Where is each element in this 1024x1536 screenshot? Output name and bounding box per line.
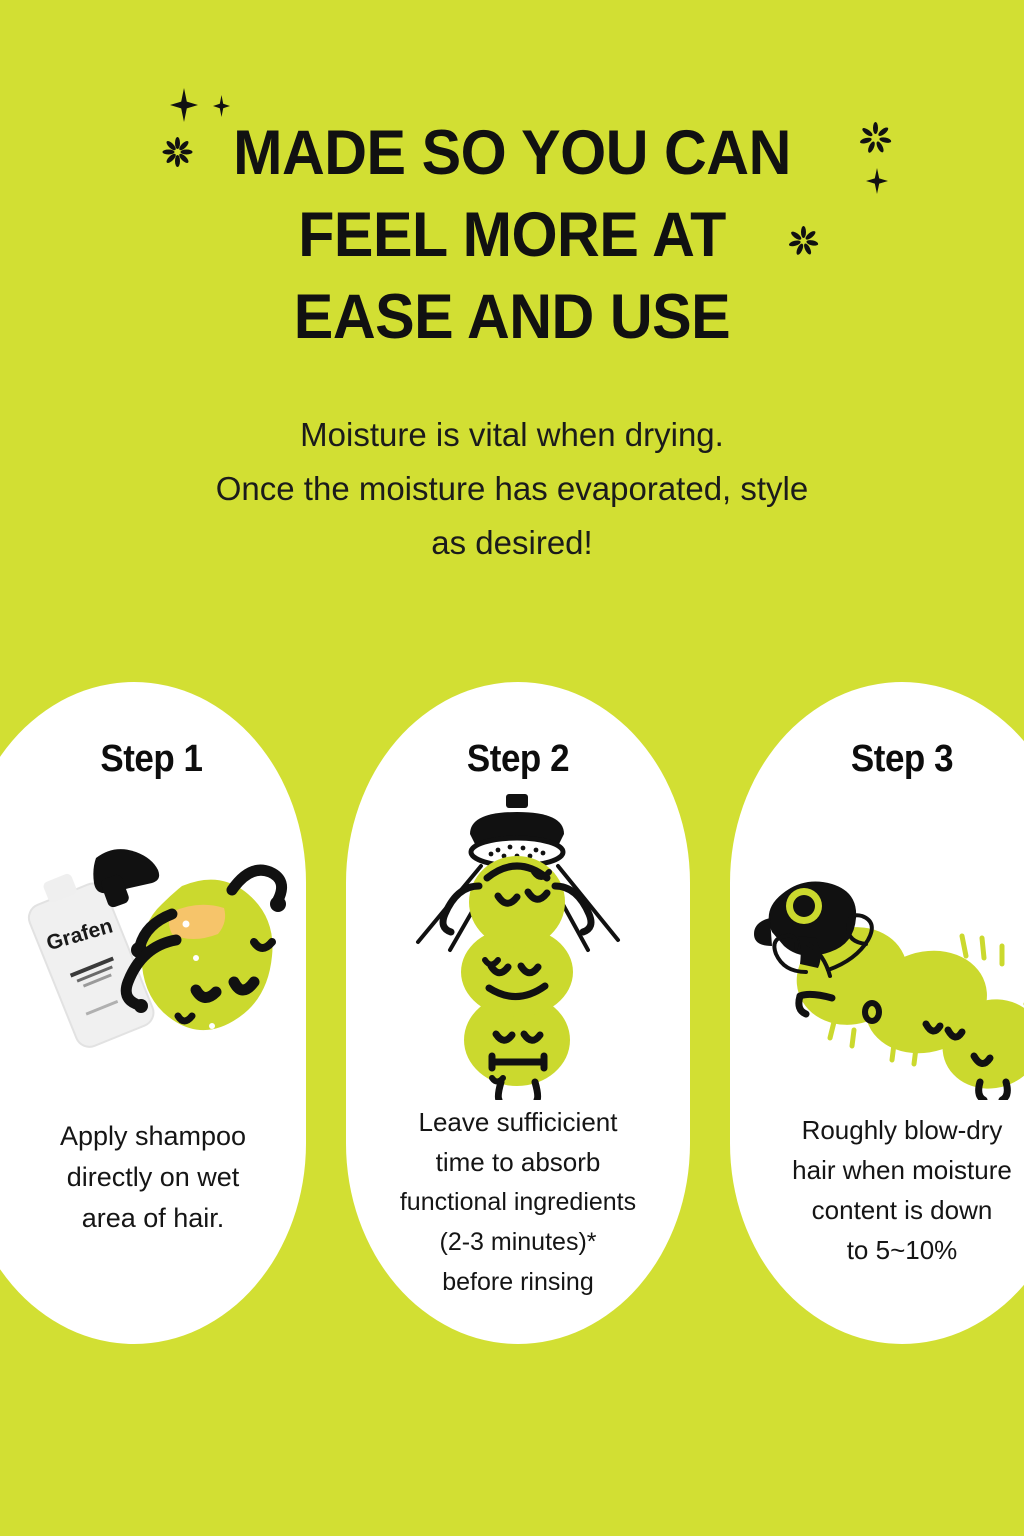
step-1-caption: Apply shampoo directly on wet area of ha… (0, 1116, 306, 1239)
page-subtitle: Moisture is vital when drying. Once the … (0, 408, 1024, 570)
step-2-caption-line-3: functional ingredients (346, 1182, 690, 1222)
step-2-title: Step 2 (360, 738, 676, 781)
step-1-caption-line-2: directly on wet (0, 1157, 306, 1198)
step-2-caption: Leave sufficicient time to absorb functi… (346, 1102, 690, 1302)
step-3-illustration (730, 790, 1024, 1100)
headline-line-1: MADE SO YOU CAN (31, 112, 994, 194)
step-1-illustration: Grafen (0, 790, 306, 1100)
page-title: MADE SO YOU CAN FEEL MORE AT EASE AND US… (31, 112, 994, 358)
step-1-title: Step 1 (0, 738, 292, 781)
hair-dryer-and-fluffy-character-icon (730, 790, 1024, 1100)
step-2-caption-line-1: Leave sufficicient (346, 1102, 690, 1142)
subtitle-line-2: Once the moisture has evaporated, style (0, 462, 1024, 516)
step-3-title: Step 3 (744, 738, 1024, 781)
step-3-caption-line-1: Roughly blow-dry (730, 1110, 1024, 1150)
step-3-caption-line-2: hair when moisture (730, 1150, 1024, 1190)
step-3-caption-line-4: to 5~10% (730, 1230, 1024, 1270)
step-2-caption-line-4: (2-3 minutes)* (346, 1222, 690, 1262)
step-1-caption-line-1: Apply shampoo (0, 1116, 306, 1157)
step-card-2[interactable]: Step 2 (346, 682, 690, 1344)
step-1-caption-line-3: area of hair. (0, 1198, 306, 1239)
step-2-caption-line-5: before rinsing (346, 1262, 690, 1302)
step-3-caption: Roughly blow-dry hair when moisture cont… (730, 1110, 1024, 1270)
step-3-caption-line-3: content is down (730, 1190, 1024, 1230)
headline-line-2: FEEL MORE AT (31, 194, 994, 276)
subtitle-line-1: Moisture is vital when drying. (0, 408, 1024, 462)
steps-container: Step 1 Grafen (0, 682, 1024, 1362)
headline-line-3: EASE AND USE (31, 276, 994, 358)
step-card-1[interactable]: Step 1 Grafen (0, 682, 306, 1344)
step-2-caption-line-2: time to absorb (346, 1142, 690, 1182)
subtitle-line-3: as desired! (0, 516, 1024, 570)
poster-root: MADE SO YOU CAN FEEL MORE AT EASE AND US… (0, 0, 1024, 1536)
step-2-illustration (346, 790, 690, 1100)
shampoo-bottle-and-character-icon: Grafen (0, 790, 306, 1100)
step-card-3[interactable]: Step 3 (730, 682, 1024, 1344)
shower-head-and-stacked-characters-icon (346, 790, 690, 1100)
